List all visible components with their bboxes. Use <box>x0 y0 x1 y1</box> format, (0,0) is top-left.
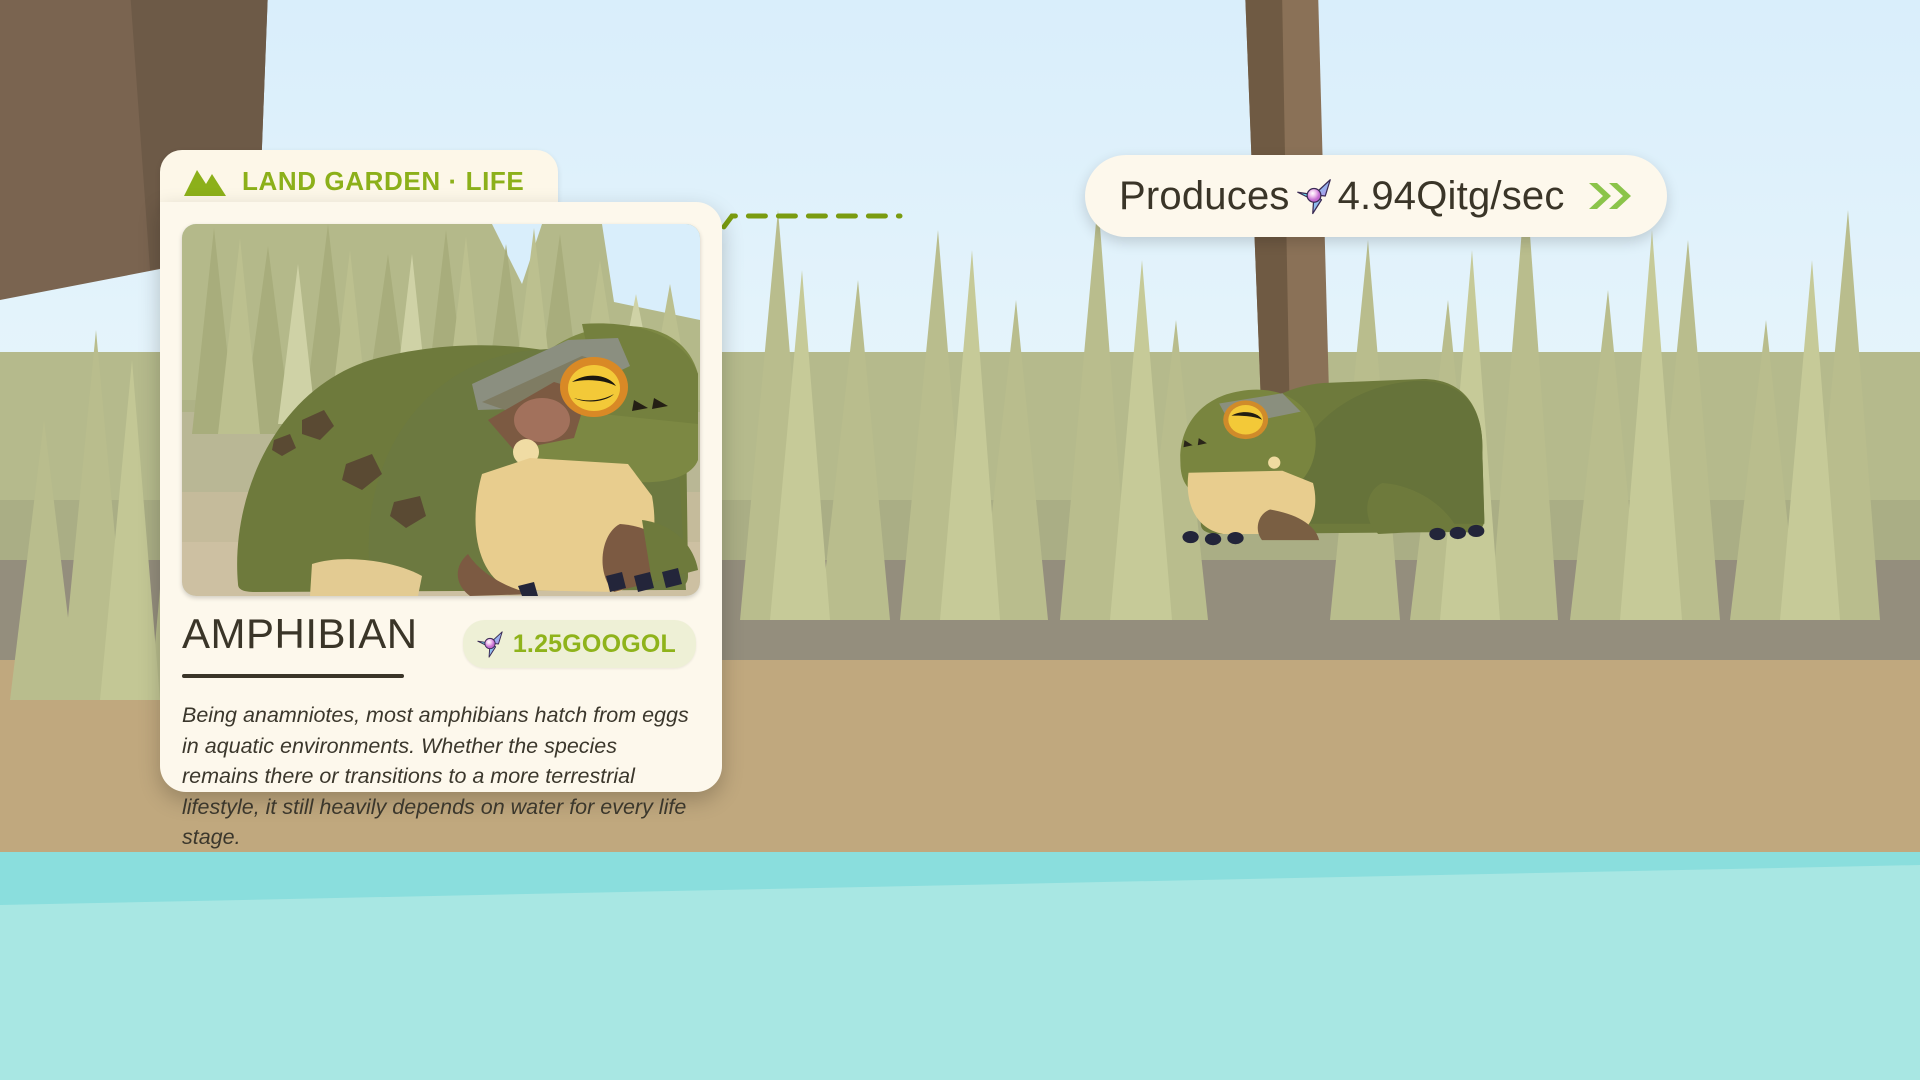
background-frog <box>1180 379 1484 545</box>
card-description: Being anamniotes, most amphibians hatch … <box>182 700 690 853</box>
amphibian-frog-artwork <box>182 224 700 596</box>
game-screen: Produces 4.94Qitg/sec <box>0 0 1920 1080</box>
page-title: AMPHIBIAN <box>182 610 418 658</box>
produces-value: 4.94Qitg/sec <box>1338 174 1565 219</box>
double-chevron-right-icon[interactable] <box>1585 179 1637 213</box>
price-badge[interactable]: 1.25GOOGOL <box>463 620 696 668</box>
card-category-label: LAND GARDEN · LIFE <box>242 166 524 197</box>
card-title-row: AMPHIBIAN <box>182 610 700 678</box>
card-body: AMPHIBIAN <box>160 202 722 792</box>
produces-label: Produces <box>1119 174 1290 219</box>
mountain-icon <box>182 164 228 198</box>
title-underline <box>182 674 404 678</box>
produces-banner[interactable]: Produces 4.94Qitg/sec <box>1085 155 1667 237</box>
star-currency-icon <box>475 629 505 659</box>
price-value: 1.25GOOGOL <box>513 630 676 659</box>
star-currency-icon <box>1294 176 1334 216</box>
